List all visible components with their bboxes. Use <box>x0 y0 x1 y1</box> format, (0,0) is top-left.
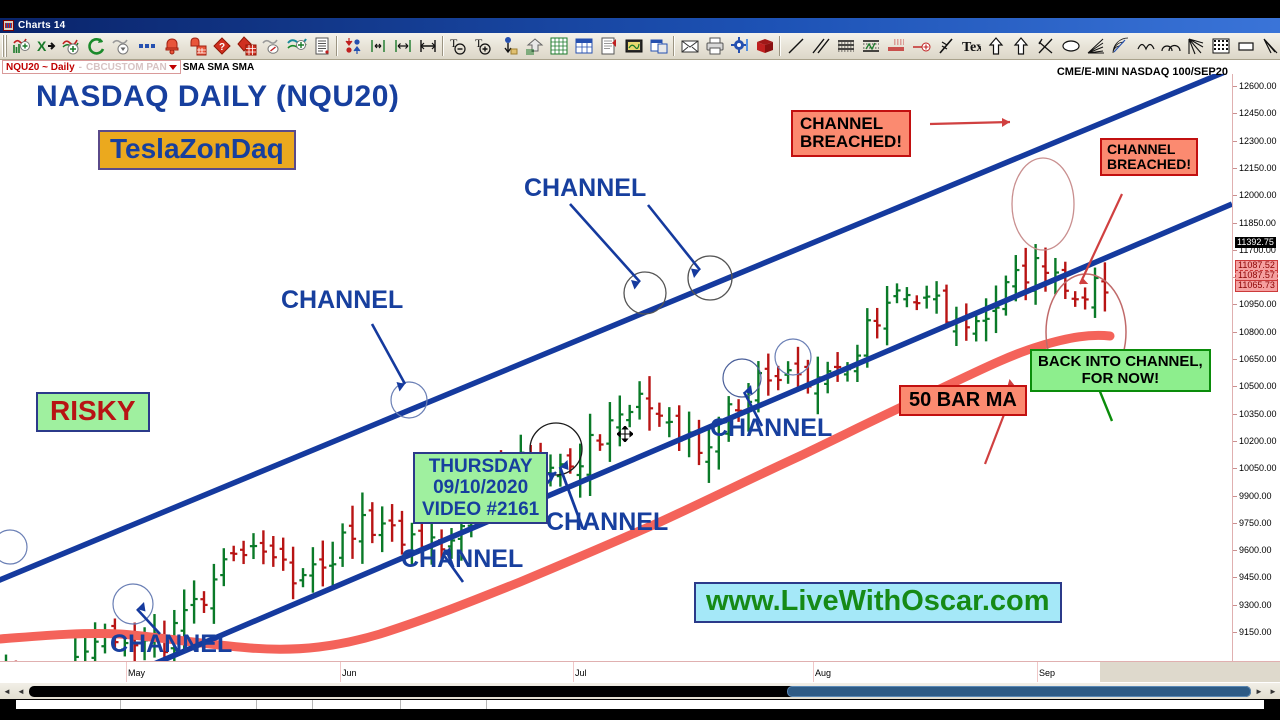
dots-icon[interactable] <box>134 34 159 58</box>
ellipse-icon[interactable] <box>1058 34 1083 58</box>
price-tick <box>1233 195 1237 196</box>
price-tick-label: 10200.00 <box>1239 437 1277 446</box>
add-chart-icon[interactable] <box>9 34 34 58</box>
arcs-icon[interactable] <box>1158 34 1183 58</box>
horizontal-scrollbar[interactable]: ◄ ◄ ► ► <box>0 682 1280 699</box>
price-tick <box>1233 141 1237 142</box>
speed-lines-icon[interactable] <box>1258 34 1280 58</box>
price-tick <box>1233 441 1237 442</box>
rectangle-icon[interactable] <box>1233 34 1258 58</box>
date-tick-label: Jul <box>575 668 587 678</box>
price-tick-label: 10650.00 <box>1239 355 1277 364</box>
price-tick <box>1233 632 1237 633</box>
price-tick-label: 12300.00 <box>1239 137 1277 146</box>
channel-icon[interactable] <box>858 34 883 58</box>
arrow-breach-top <box>930 122 1010 124</box>
risky-badge: RISKY <box>36 392 150 432</box>
crossed-lines-icon[interactable] <box>1033 34 1058 58</box>
price-tick <box>1233 496 1237 497</box>
price-tick <box>1233 304 1237 305</box>
fib-lines-icon[interactable] <box>883 34 908 58</box>
data-window-icon[interactable] <box>309 34 334 58</box>
scroll-right-step-icon[interactable]: ► <box>1252 684 1266 699</box>
thursday-video-badge: THURSDAY 09/10/2020 VIDEO #2161 <box>413 452 548 524</box>
scroll-left-icon[interactable]: ◄ <box>0 684 14 699</box>
date-tick-label: Sep <box>1039 668 1055 678</box>
ma-badge: 50 BAR MA <box>899 385 1027 416</box>
price-tick-label: 12000.00 <box>1239 191 1277 200</box>
price-tick-label: 9150.00 <box>1239 628 1272 637</box>
price-tick-label: 11850.00 <box>1239 219 1276 228</box>
price-tick-label: 9300.00 <box>1239 601 1272 610</box>
date-tick-label: Aug <box>815 668 831 678</box>
add-study-icon[interactable] <box>59 34 84 58</box>
price-tick-label: 10950.00 <box>1239 300 1277 309</box>
date-axis[interactable]: MayJunJulAugSep <box>0 661 1280 682</box>
date-tick <box>813 662 814 683</box>
cursor-tool-icon[interactable] <box>496 34 521 58</box>
channel-label-top: CHANNEL <box>524 174 646 203</box>
thursday-line2: 09/10/2020 <box>422 477 539 498</box>
parallel-lines-icon[interactable] <box>808 34 833 58</box>
thursday-line3: VIDEO #2161 <box>422 499 539 520</box>
price-marker: 11392.75 <box>1235 237 1276 248</box>
price-tick <box>1233 86 1237 87</box>
scroll-thumb[interactable] <box>787 686 1251 697</box>
spread-icon[interactable] <box>340 34 365 58</box>
price-tick <box>1233 468 1237 469</box>
arrow-channel-left <box>372 324 405 384</box>
price-tick-label: 10050.00 <box>1239 464 1277 473</box>
channel-label-bottom: CHANNEL <box>110 630 232 659</box>
zoom-in-time-icon[interactable]: T <box>471 34 496 58</box>
help-icon[interactable]: ? <box>209 34 234 58</box>
price-tick <box>1233 250 1237 251</box>
application-window: Charts 14 X ? T T <box>0 0 1280 720</box>
text-tool-icon[interactable]: Text <box>958 34 983 58</box>
book-icon[interactable] <box>752 34 777 58</box>
help-table-icon[interactable] <box>234 34 259 58</box>
symbol-selector[interactable]: NQU20 ~ Daily - CBCUSTOM PAN <box>2 60 181 74</box>
price-tick <box>1233 113 1237 114</box>
scroll-left-step-icon[interactable]: ◄ <box>14 684 28 699</box>
cut-icon[interactable] <box>933 34 958 58</box>
wave-icon[interactable] <box>1133 34 1158 58</box>
price-tick-label: 10500.00 <box>1239 382 1277 391</box>
price-tick <box>1233 414 1237 415</box>
mouse-cursor <box>617 426 633 447</box>
trendline-icon[interactable] <box>783 34 808 58</box>
scroll-right-icon[interactable]: ► <box>1266 684 1280 699</box>
back-line2: FOR NOW! <box>1038 371 1203 388</box>
svg-text:Text: Text <box>962 40 981 55</box>
breach-right-line1: CHANNEL <box>1107 142 1191 157</box>
breach-top-line2: BREACHED! <box>800 133 902 151</box>
channel-label-lowermid: CHANNEL <box>401 545 523 574</box>
arrow-breach-right <box>1080 194 1122 284</box>
main-toolbar: X ? T T <box>0 33 1280 60</box>
window-titlebar: Charts 14 <box>0 18 1280 33</box>
table-icon[interactable] <box>571 34 596 58</box>
price-tick <box>1233 550 1237 551</box>
fan-icon[interactable] <box>1183 34 1208 58</box>
charts-app-icon <box>3 20 14 31</box>
price-tick-label: 9450.00 <box>1239 573 1272 582</box>
bar-space-less-icon[interactable] <box>365 34 390 58</box>
mail-icon[interactable] <box>677 34 702 58</box>
date-tick <box>573 662 574 683</box>
price-axis[interactable]: 12600.0012450.0012300.0012150.0012000.00… <box>1232 74 1280 661</box>
price-tick-label: 10350.00 <box>1239 410 1277 419</box>
window-icon[interactable] <box>646 34 671 58</box>
price-tick <box>1233 386 1237 387</box>
page-label: CBCUSTOM PAN <box>86 62 167 73</box>
price-tick-label: 12450.00 <box>1239 109 1277 118</box>
add-indicator-icon[interactable] <box>284 34 309 58</box>
back-line1: BACK INTO CHANNEL, <box>1038 354 1203 371</box>
alert-icon[interactable] <box>159 34 184 58</box>
edit-study-icon[interactable] <box>259 34 284 58</box>
price-tick <box>1233 523 1237 524</box>
channel-label-mid: CHANNEL <box>546 508 668 537</box>
back-into-channel-badge: BACK INTO CHANNEL, FOR NOW! <box>1030 349 1211 392</box>
grid-icon[interactable] <box>546 34 571 58</box>
teslazondaq-badge: TeslaZonDaq <box>98 130 296 170</box>
channel-label-right: CHANNEL <box>710 414 832 443</box>
arrow-channel-top-a <box>570 204 640 282</box>
snapshot-icon[interactable] <box>621 34 646 58</box>
price-tick-label: 9750.00 <box>1239 519 1272 528</box>
price-tick <box>1233 359 1237 360</box>
price-tick-label: 9600.00 <box>1239 546 1272 555</box>
bar-space-more-icon[interactable] <box>390 34 415 58</box>
taskbar-strip <box>16 700 1264 709</box>
price-tick-label: 9900.00 <box>1239 492 1272 501</box>
zoom-out-time-icon[interactable]: T <box>446 34 471 58</box>
channel-label-left: CHANNEL <box>281 286 403 315</box>
window-title: Charts 14 <box>18 21 65 31</box>
alert-list-icon[interactable] <box>184 34 209 58</box>
contract-label: CME/E-MINI NASDAQ 100/SEP20 <box>1057 66 1228 78</box>
symbol-label: NQU20 ~ Daily <box>6 62 75 73</box>
delete-symbol-icon[interactable]: X <box>34 34 59 58</box>
price-tick <box>1233 605 1237 606</box>
website-badge: www.LiveWithOscar.com <box>694 582 1062 623</box>
channel-breached-top-badge: CHANNEL BREACHED! <box>791 110 911 157</box>
date-tick-label: Jun <box>342 668 357 678</box>
thursday-line1: THURSDAY <box>422 456 539 477</box>
date-axis-right-pad <box>1100 662 1280 683</box>
scroll-track[interactable] <box>29 686 1251 697</box>
breach-right-line2: BREACHED! <box>1107 157 1191 172</box>
arrow-channel-top-b <box>648 205 700 270</box>
price-tick <box>1233 577 1237 578</box>
toolbar-grip[interactable] <box>2 35 7 57</box>
svg-text:?: ? <box>218 42 224 53</box>
price-tick <box>1233 168 1237 169</box>
chevron-down-icon[interactable] <box>169 65 177 70</box>
channel-breached-right-badge: CHANNEL BREACHED! <box>1100 138 1198 176</box>
breach-top-line1: CHANNEL <box>800 115 902 133</box>
raster-grid-icon[interactable] <box>1208 34 1233 58</box>
studies-label: SMA SMA SMA <box>183 62 254 73</box>
study-down-icon[interactable] <box>109 34 134 58</box>
page-title: NASDAQ DAILY (NQU20) <box>36 80 399 114</box>
price-tick-label: 12600.00 <box>1239 82 1277 91</box>
svg-text:X: X <box>37 38 47 54</box>
price-tick-label: 12150.00 <box>1239 164 1277 173</box>
print-icon[interactable] <box>702 34 727 58</box>
svg-text:T: T <box>475 36 483 50</box>
note-icon[interactable] <box>596 34 621 58</box>
export-icon[interactable] <box>521 34 546 58</box>
horizontal-grid-icon[interactable] <box>833 34 858 58</box>
date-tick <box>126 662 127 683</box>
date-tick-label: May <box>128 668 145 678</box>
symbol-dash: - <box>79 62 82 73</box>
price-tick-label: 10800.00 <box>1239 328 1277 337</box>
refresh-icon[interactable] <box>84 34 109 58</box>
arrow-up-icon[interactable] <box>983 34 1008 58</box>
price-marker: 11065.73 <box>1235 280 1278 292</box>
price-tick <box>1233 223 1237 224</box>
fib-fan-icon[interactable] <box>1108 34 1133 58</box>
date-tick <box>1037 662 1038 683</box>
price-tick <box>1233 332 1237 333</box>
arrow-up2-icon[interactable] <box>1008 34 1033 58</box>
svg-text:T: T <box>450 36 458 50</box>
gann-fan-icon[interactable] <box>1083 34 1108 58</box>
add-line-icon[interactable] <box>908 34 933 58</box>
letterbox-top <box>0 0 1280 18</box>
fit-width-icon[interactable] <box>415 34 440 58</box>
date-tick <box>340 662 341 683</box>
settings-icon[interactable] <box>727 34 752 58</box>
